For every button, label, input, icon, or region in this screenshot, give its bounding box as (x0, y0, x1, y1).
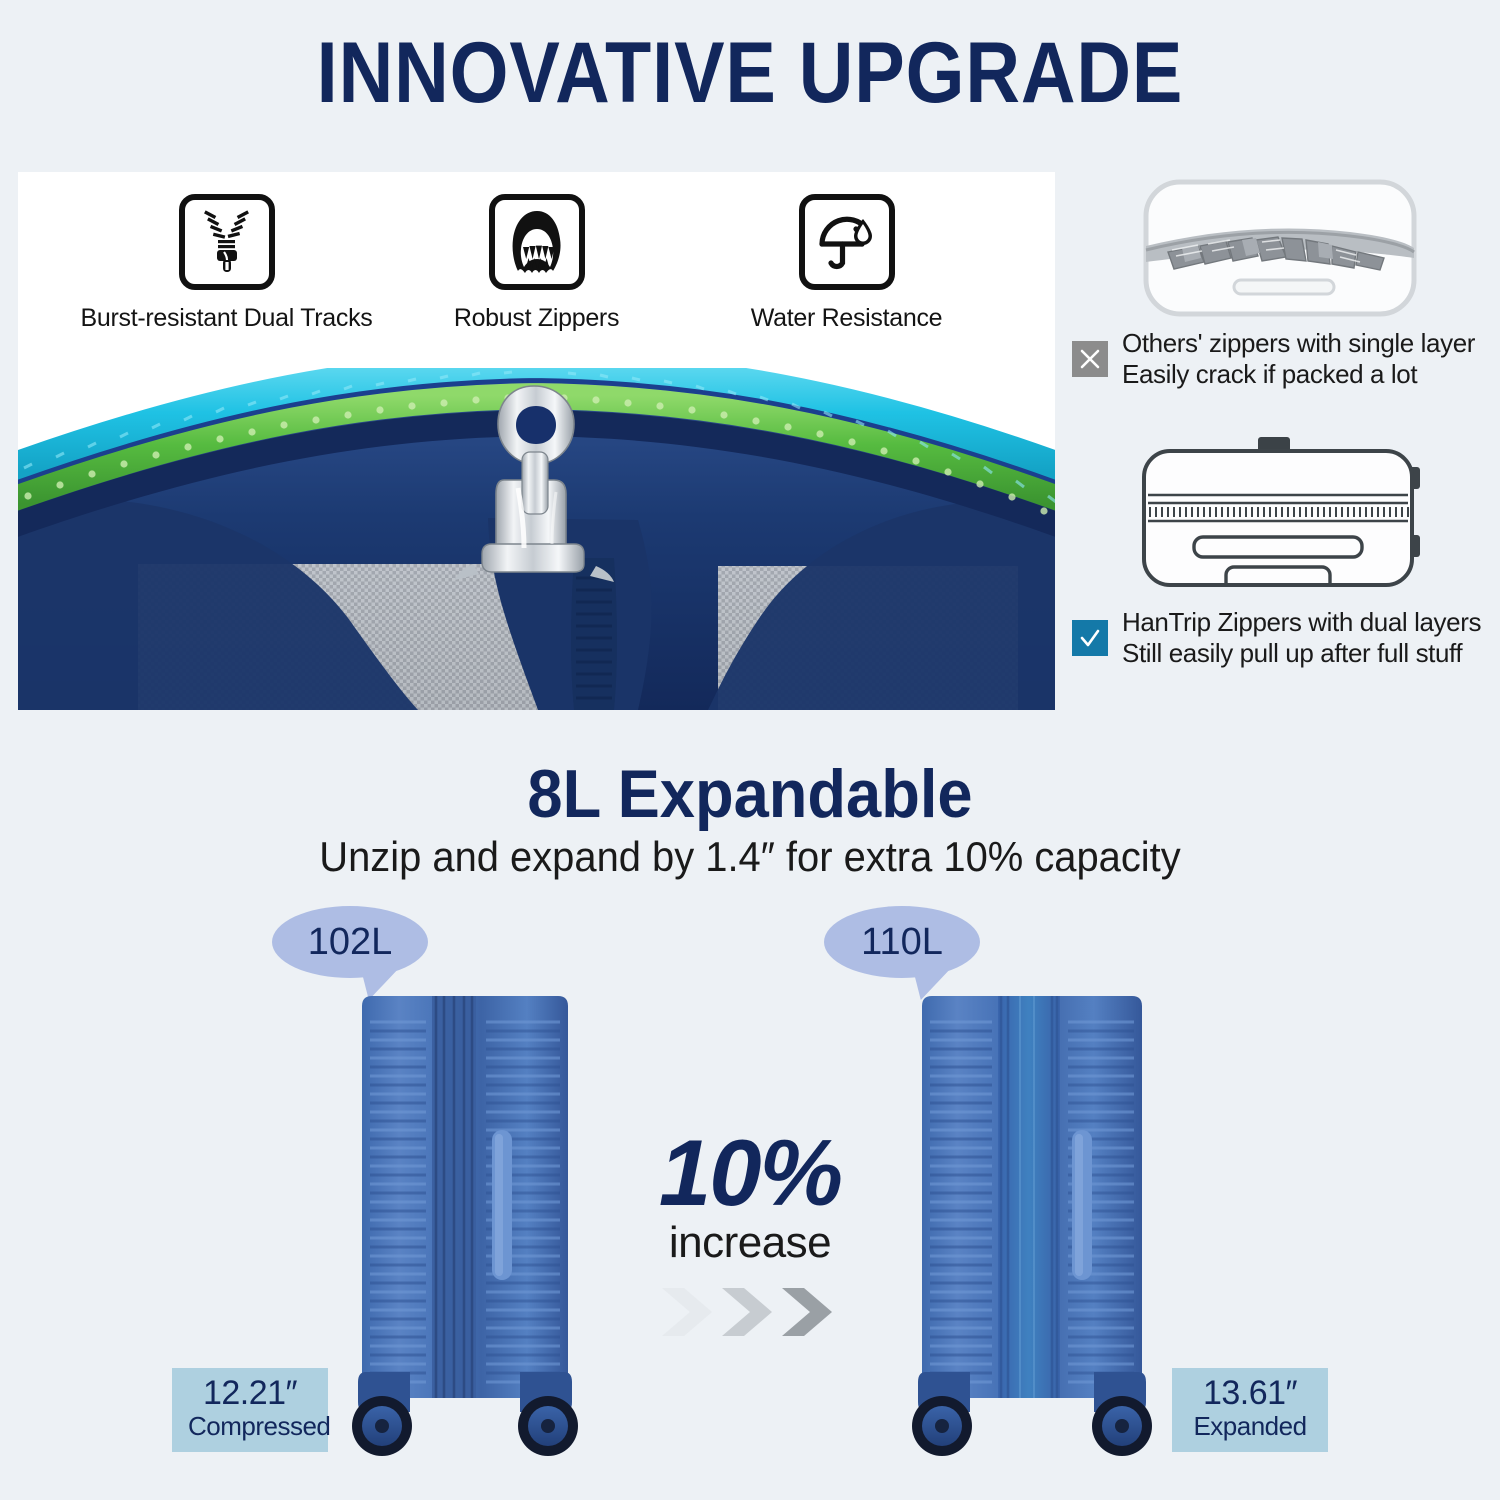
measurement-compressed: 12.21″ Compressed (172, 1368, 328, 1452)
zipper-icon (179, 194, 275, 290)
comparison-hantrip-line1: HanTrip Zippers with dual layers (1122, 607, 1481, 638)
suitcase-expanded-image (900, 992, 1165, 1462)
section-subtitle-expandable: Unzip and expand by 1.4″ for extra 10% c… (38, 833, 1463, 881)
shark-jaws-icon (489, 194, 585, 290)
x-badge-icon (1072, 341, 1108, 377)
feature-robust-zippers: Robust Zippers (427, 194, 647, 333)
chevron-arrows (620, 1284, 880, 1340)
comparison-others: Others' zippers with single layer Easily… (1072, 172, 1488, 389)
feature-label: Burst-resistant Dual Tracks (81, 304, 373, 333)
suitcase-compressed-image (340, 992, 590, 1462)
umbrella-water-drop-icon (799, 194, 895, 290)
measurement-compressed-value: 12.21″ (188, 1376, 312, 1412)
hantrip-dual-layer-zipper-suitcase-illustration (1072, 429, 1488, 601)
increase-label: increase (620, 1219, 880, 1267)
feature-icon-row: Burst-resistant Dual Tracks (18, 194, 1055, 333)
section-title-expandable: 8L Expandable (53, 755, 1448, 833)
zipper-photo-panel: Burst-resistant Dual Tracks (18, 172, 1055, 710)
measurement-compressed-label: Compressed (188, 1412, 312, 1441)
capacity-bubble-compressed: 102L (272, 906, 428, 978)
comparison-hantrip-caption: HanTrip Zippers with dual layers Still e… (1072, 607, 1488, 668)
comparison-others-line2: Easily crack if packed a lot (1122, 359, 1475, 390)
increase-callout: 10% increase (620, 1128, 880, 1340)
measurement-expanded: 13.61″ Expanded (1172, 1368, 1328, 1452)
comparison-others-text: Others' zippers with single layer Easily… (1122, 328, 1475, 389)
others-single-layer-zipper-burst-illustration (1072, 172, 1488, 322)
check-badge-icon (1072, 620, 1108, 656)
comparison-hantrip-line2: Still easily pull up after full stuff (1122, 638, 1481, 669)
dual-track-zipper-closeup-photo (18, 368, 1055, 710)
feature-water-resistance: Water Resistance (737, 194, 957, 333)
increase-percent: 10% (620, 1128, 880, 1217)
chevron-right-icon (656, 1284, 844, 1340)
comparison-hantrip: HanTrip Zippers with dual layers Still e… (1072, 429, 1488, 668)
feature-label: Robust Zippers (454, 304, 619, 333)
zipper-comparison-column: Others' zippers with single layer Easily… (1072, 172, 1488, 669)
comparison-others-line1: Others' zippers with single layer (1122, 328, 1475, 359)
comparison-hantrip-text: HanTrip Zippers with dual layers Still e… (1122, 607, 1481, 668)
measurement-expanded-value: 13.61″ (1188, 1376, 1312, 1412)
page-title: INNOVATIVE UPGRADE (90, 24, 1410, 123)
infographic-page: INNOVATIVE UPGRADE (0, 0, 1500, 1500)
measurement-expanded-label: Expanded (1188, 1412, 1312, 1441)
feature-burst-resistant: Burst-resistant Dual Tracks (117, 194, 337, 333)
feature-label: Water Resistance (751, 304, 943, 333)
comparison-others-caption: Others' zippers with single layer Easily… (1072, 328, 1488, 389)
capacity-bubble-expanded: 110L (824, 906, 980, 978)
